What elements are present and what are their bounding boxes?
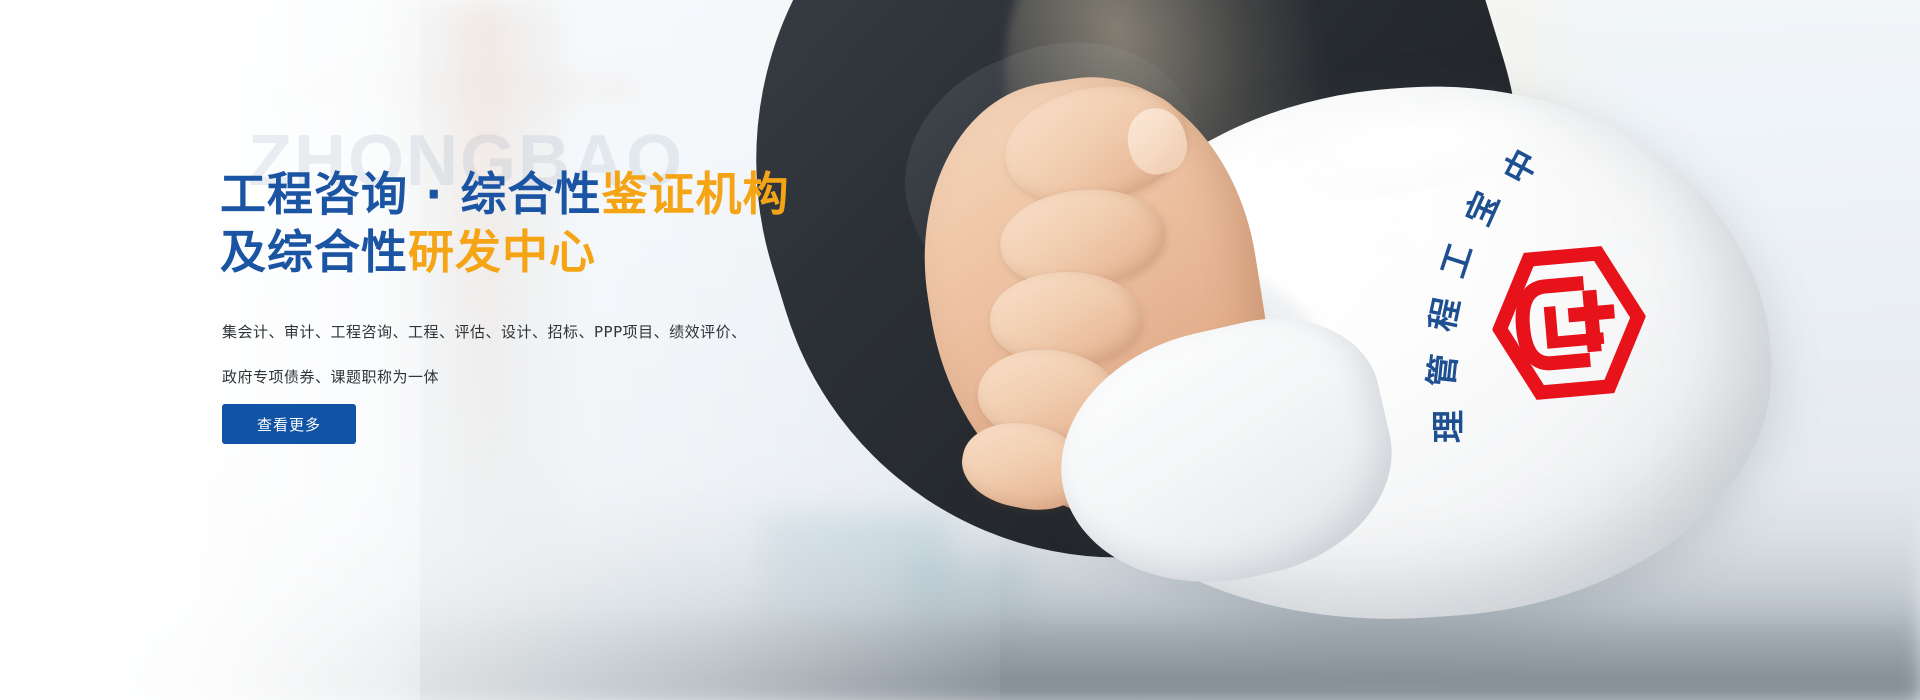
headline-line-2: 及综合性研发中心 — [220, 223, 940, 281]
headline-line-2-orange: 研发中心 — [408, 225, 596, 279]
description-line-1: 集会计、审计、工程咨询、工程、评估、设计、招标、PPP项目、绩效评价、 — [222, 310, 822, 355]
hero-headline: 工程咨询 · 综合性鉴证机构 及综合性研发中心 — [220, 165, 940, 281]
headline-line-1: 工程咨询 · 综合性鉴证机构 — [220, 165, 940, 223]
hero-description: 集会计、审计、工程咨询、工程、评估、设计、招标、PPP项目、绩效评价、 政府专项… — [222, 310, 822, 400]
hero-content: ZHONGBAO 工程咨询 · 综合性鉴证机构 及综合性研发中心 集会计、审计、… — [220, 0, 940, 700]
headline-line-2-blue: 及综合性 — [220, 225, 408, 279]
headline-line-1-blue: 工程咨询 · 综合性 — [220, 167, 602, 221]
view-more-button[interactable]: 查看更多 — [222, 404, 356, 444]
description-line-2: 政府专项债券、课题职称为一体 — [222, 355, 822, 400]
hero-banner: 中 宝 工 程 管 理 ZHONGBAO 工程咨询 · 综合性鉴证机构 及综合性… — [0, 0, 1920, 700]
headline-line-1-orange: 鉴证机构 — [602, 167, 790, 221]
zhongbao-hexagon-logo-icon — [1486, 242, 1652, 405]
